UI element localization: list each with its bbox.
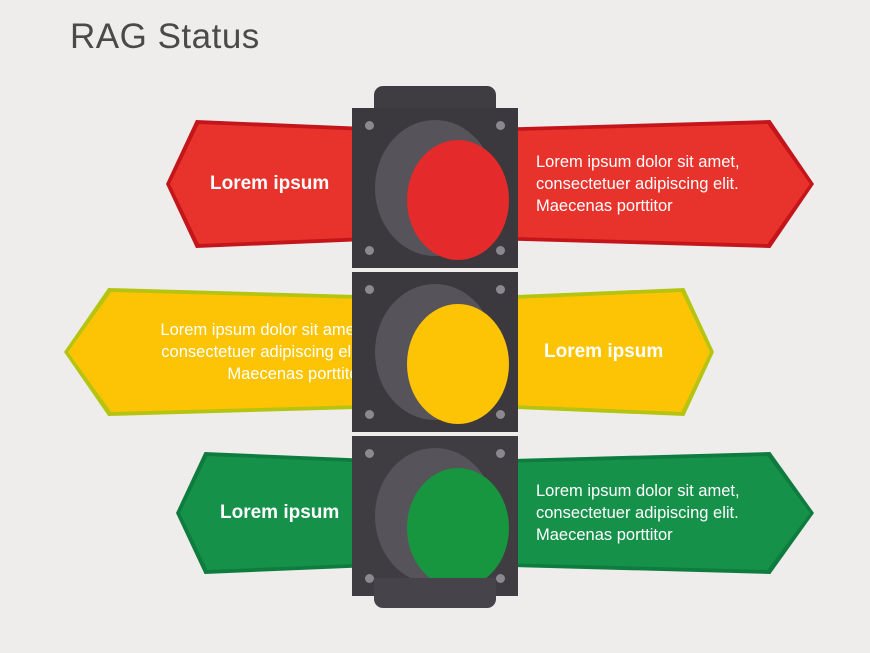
banner-green-left[interactable]: Lorem ipsum bbox=[176, 452, 380, 574]
slide-canvas: RAG Status Lorem ipsum Lorem ipsum dolor… bbox=[0, 0, 870, 653]
screw-icon bbox=[365, 121, 374, 130]
screw-icon bbox=[365, 285, 374, 294]
traffic-light-segment-red bbox=[352, 108, 518, 268]
screw-icon bbox=[496, 246, 505, 255]
screw-icon bbox=[365, 246, 374, 255]
banner-green-left-label: Lorem ipsum bbox=[176, 500, 380, 525]
traffic-light-segment-amber bbox=[352, 272, 518, 432]
banner-green-right-paragraph: Lorem ipsum dolor sit amet, consectetuer… bbox=[502, 480, 814, 546]
amber-lamp[interactable] bbox=[407, 304, 509, 424]
screw-icon bbox=[496, 285, 505, 294]
banner-green-right[interactable]: Lorem ipsum dolor sit amet, consectetuer… bbox=[502, 452, 814, 574]
red-lamp[interactable] bbox=[407, 140, 509, 260]
banner-amber-left-paragraph: Lorem ipsum dolor sit amet, consectetuer… bbox=[64, 319, 380, 385]
screw-icon bbox=[496, 574, 505, 583]
traffic-light-bottom-cap bbox=[374, 578, 496, 608]
banner-red-right[interactable]: Lorem ipsum dolor sit amet, consectetuer… bbox=[502, 120, 814, 248]
screw-icon bbox=[496, 121, 505, 130]
screw-icon bbox=[496, 410, 505, 419]
traffic-light-graphic bbox=[352, 86, 518, 608]
lamp-ring-amber bbox=[375, 284, 495, 420]
screw-icon bbox=[365, 449, 374, 458]
lamp-ring-green bbox=[375, 448, 495, 584]
banner-amber-left[interactable]: Lorem ipsum dolor sit amet, consectetuer… bbox=[64, 288, 380, 416]
banner-red-left[interactable]: Lorem ipsum bbox=[166, 120, 380, 248]
traffic-light-segment-green bbox=[352, 436, 518, 596]
banner-amber-right-label: Lorem ipsum bbox=[502, 339, 714, 364]
screw-icon bbox=[496, 449, 505, 458]
screw-icon bbox=[365, 574, 374, 583]
green-lamp[interactable] bbox=[407, 468, 509, 588]
lamp-ring-red bbox=[375, 120, 495, 256]
screw-icon bbox=[365, 410, 374, 419]
banner-amber-right[interactable]: Lorem ipsum bbox=[502, 288, 714, 416]
banner-red-left-label: Lorem ipsum bbox=[166, 171, 380, 196]
banner-red-right-paragraph: Lorem ipsum dolor sit amet, consectetuer… bbox=[502, 151, 814, 217]
